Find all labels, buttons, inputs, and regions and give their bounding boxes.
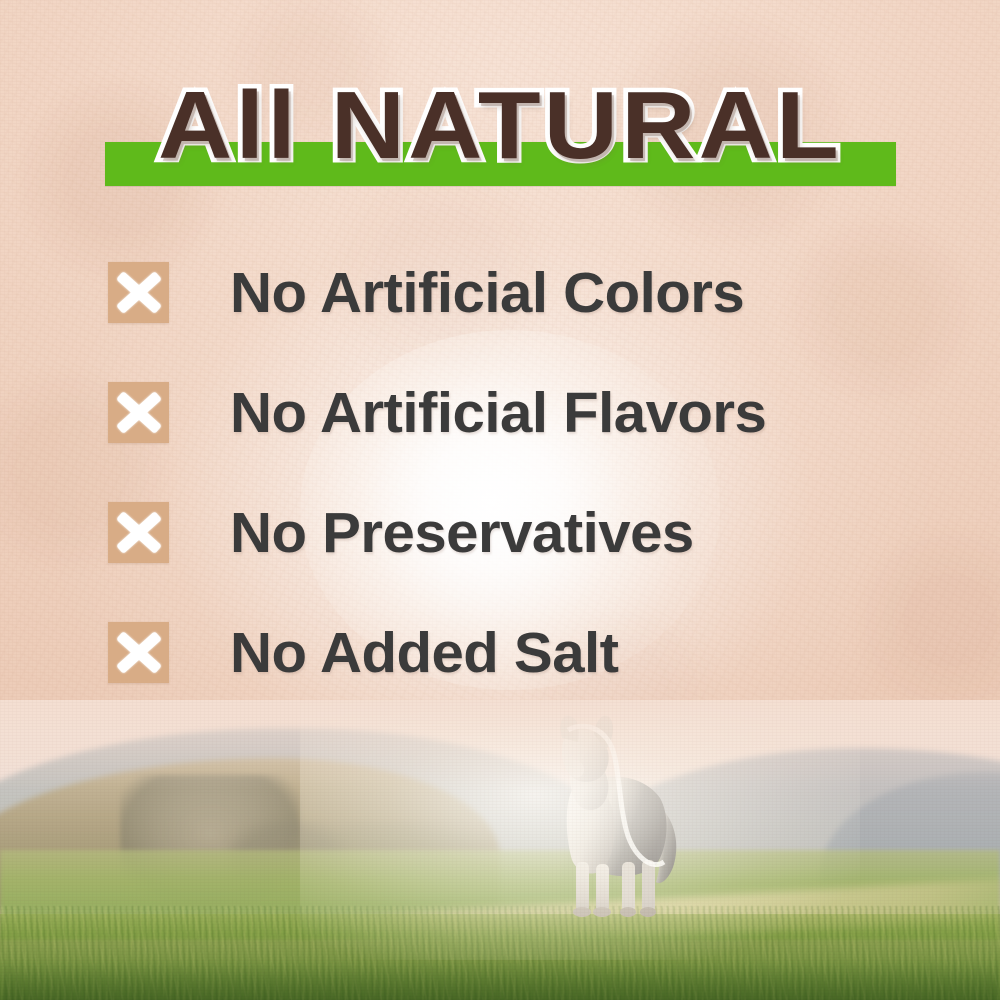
dog-silhouette	[528, 712, 698, 922]
page-title: All NATURAL	[0, 74, 1000, 178]
list-item-label: No Added Salt	[230, 618, 619, 688]
dog-photo	[0, 700, 1000, 1000]
x-mark-icon	[108, 622, 169, 683]
x-mark-icon	[108, 502, 169, 563]
list-item-label: No Artificial Colors	[230, 258, 744, 328]
grass-shadow	[0, 962, 1000, 1000]
feature-checklist: No Artificial Colors No Artificial Flavo…	[108, 262, 928, 742]
list-item: No Artificial Flavors	[108, 382, 928, 502]
list-item-label: No Preservatives	[230, 498, 694, 568]
list-item-label: No Artificial Flavors	[230, 378, 766, 448]
x-mark-icon	[108, 382, 169, 443]
title-banner: All NATURAL	[0, 74, 1000, 194]
list-item: No Artificial Colors	[108, 262, 928, 382]
x-mark-icon	[108, 262, 169, 323]
list-item: No Preservatives	[108, 502, 928, 622]
all-natural-poster: All NATURAL No Artificial Colors No Arti…	[0, 0, 1000, 1000]
